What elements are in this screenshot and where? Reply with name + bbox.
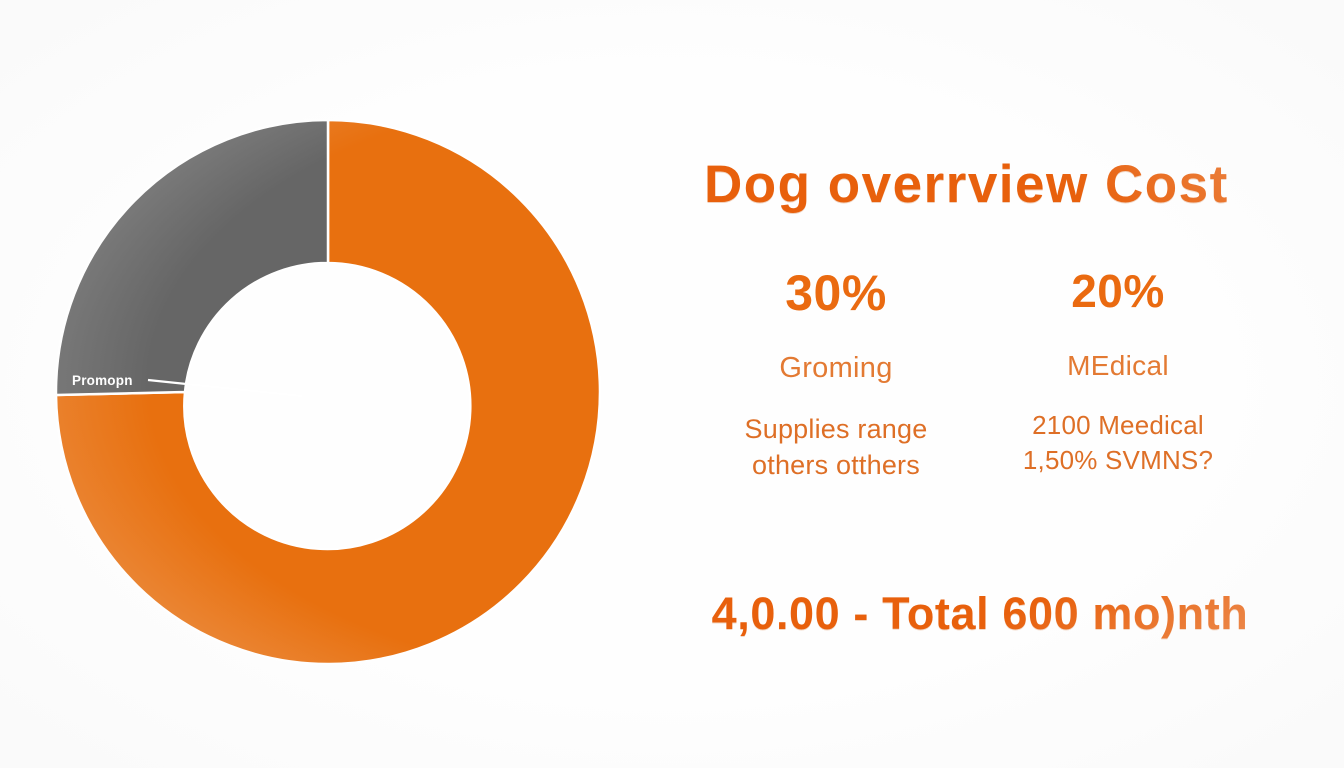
donut-chart-svg: Promopn [40,104,620,664]
donut-slice-promopn[interactable] [56,120,328,395]
page-title: Dog overrview Cost [704,154,1284,215]
stat-detail-groming: Supplies range others otthers [696,411,976,484]
stat-percent-medical: 20% [978,268,1258,314]
donut-chart: Promopn [40,104,620,664]
stat-percent-groming: 30% [696,268,976,318]
stat-label-groming: Groming [696,354,976,383]
total-cost-summary: 4,0.00 - Total 600 mo)nth [660,588,1300,640]
stat-detail-medical-line2: 1,50% SVMNS? [978,443,1258,478]
stat-detail-medical-line1: 2100 Meedical [978,408,1258,443]
stat-detail-groming-line1: Supplies range [696,411,976,447]
stat-detail-groming-line2: others otthers [696,447,976,483]
donut-slice-label-promopn: Promopn [72,373,133,388]
stat-block-groming: 30% Groming Supplies range others otther… [696,268,976,484]
stat-detail-medical: 2100 Meedical 1,50% SVMNS? [978,408,1258,478]
stat-label-medical: MEdical [978,352,1258,380]
stat-block-medical: 20% MEdical 2100 Meedical 1,50% SVMNS? [978,268,1258,478]
infographic-canvas: Promopn Dog overrview Cost 30% Groming S… [0,0,1344,768]
summary-panel: Dog overrview Cost 30% Groming Supplies … [660,120,1300,680]
